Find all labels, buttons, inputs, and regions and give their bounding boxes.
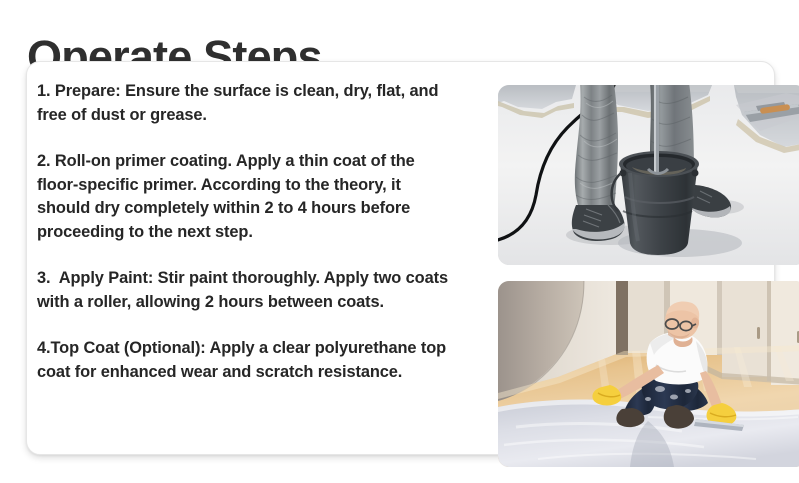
step-item-primer: 2. Roll-on primer coating. Apply a thin …: [37, 150, 457, 244]
image-column: [458, 69, 766, 483]
primer-mixing-photo: [498, 85, 799, 265]
step-item-prepare: 1. Prepare: Ensure the surface is clean,…: [37, 80, 457, 127]
door-panel-1: [722, 281, 768, 377]
applying-coating-illustration: [498, 281, 799, 467]
applying-coating-photo: [498, 281, 799, 467]
doorway-dark: [616, 281, 628, 355]
step-item-apply-paint: 3. Apply Paint: Stir paint thoroughly. A…: [37, 267, 457, 314]
door-handle-1: [757, 327, 760, 339]
operate-steps-page: Operate Steps 1. Prepare: Ensure the sur…: [0, 0, 799, 474]
steps-list: 1. Prepare: Ensure the surface is clean,…: [37, 80, 457, 384]
primer-mixing-illustration: [498, 85, 799, 265]
steps-card: 1. Prepare: Ensure the surface is clean,…: [26, 61, 775, 455]
step-item-top-coat: 4.Top Coat (Optional): Apply a clear pol…: [37, 337, 457, 384]
